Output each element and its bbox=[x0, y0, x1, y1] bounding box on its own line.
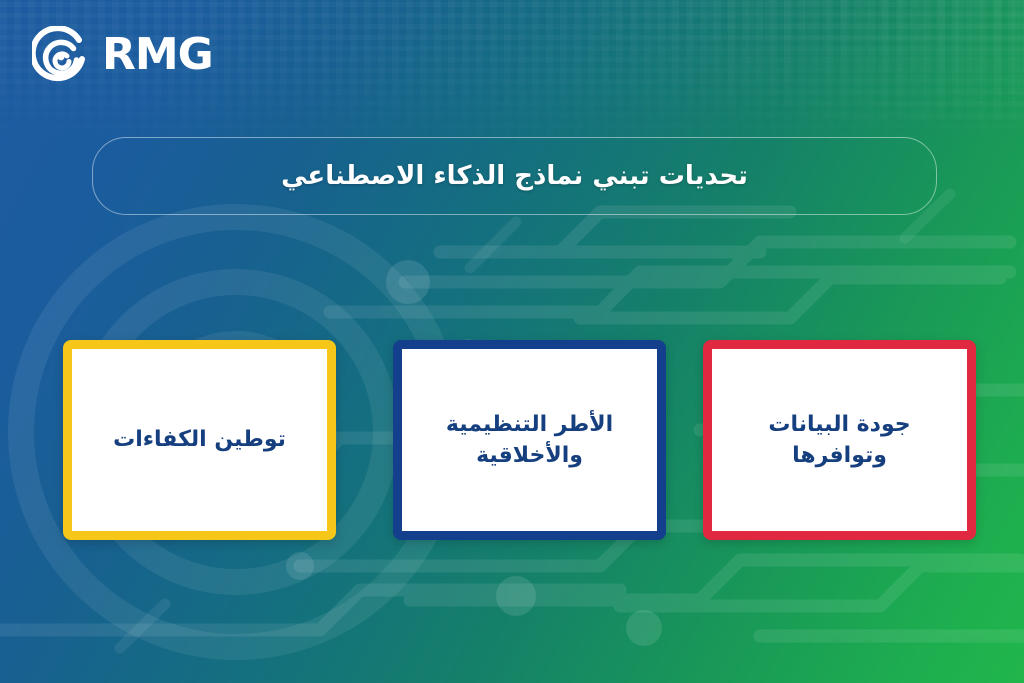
infographic-canvas: RMG تحديات تبني نماذج الذكاء الاصطناعي ت… bbox=[0, 0, 1024, 683]
challenge-card-label: توطين الكفاءات bbox=[113, 424, 286, 455]
challenge-cards-group: توطين الكفاءات الأطر التنظيمية والأخلاقي… bbox=[0, 0, 1024, 683]
challenge-card-talent-localization[interactable]: توطين الكفاءات bbox=[63, 340, 336, 540]
challenge-card-label: جودة البيانات وتوافرها bbox=[768, 409, 910, 471]
challenge-card-label: الأطر التنظيمية والأخلاقية bbox=[446, 409, 613, 471]
challenge-card-data-quality-availability[interactable]: جودة البيانات وتوافرها bbox=[703, 340, 976, 540]
challenge-card-regulatory-ethical-frameworks[interactable]: الأطر التنظيمية والأخلاقية bbox=[393, 340, 666, 540]
